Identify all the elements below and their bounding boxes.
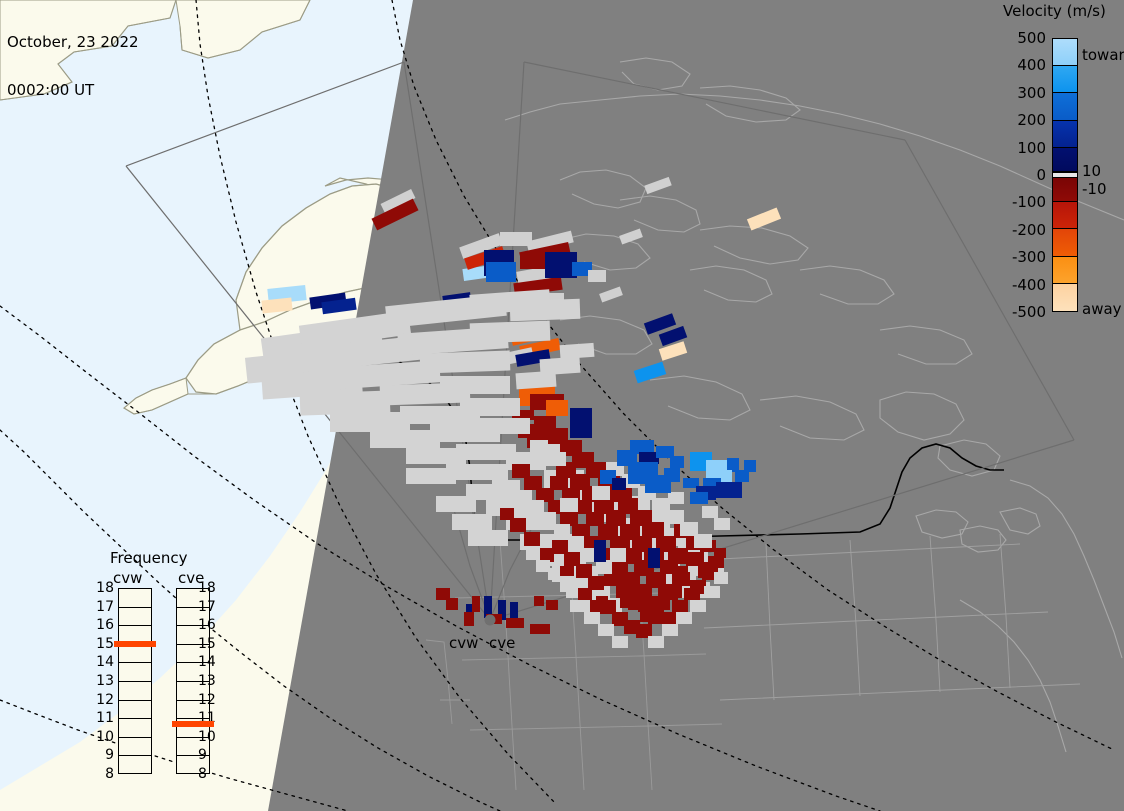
ground-scatter-cell[interactable]	[560, 498, 578, 512]
frequency-tick-cve-10: 10	[198, 729, 224, 745]
colorbar-band-5	[1053, 178, 1077, 202]
velocity-cell-positive[interactable]	[472, 596, 480, 612]
frequency-tick-cvw-8: 8	[88, 766, 114, 782]
ground-scatter-cell[interactable]	[420, 350, 511, 373]
velocity-cell-negative[interactable]	[506, 618, 524, 628]
date-label: October, 23 2022	[7, 34, 139, 50]
ground-scatter-cell[interactable]	[370, 430, 440, 448]
velocity-cell-negative[interactable]	[672, 600, 688, 612]
ground-scatter-cell[interactable]	[536, 560, 550, 572]
ground-scatter-cell[interactable]	[714, 518, 730, 530]
ground-scatter-cell[interactable]	[592, 486, 610, 500]
frequency-gauge-cvw[interactable]	[118, 588, 152, 774]
velocity-cell-negative[interactable]	[576, 564, 592, 578]
velocity-cell-negative[interactable]	[552, 540, 568, 554]
map-site-label-cvw: cvw	[449, 634, 478, 652]
velocity-cell-negative[interactable]	[550, 476, 568, 490]
velocity-cell-negative[interactable]	[700, 562, 714, 572]
colorbar-minus-threshold-label: -10	[1082, 180, 1107, 198]
frequency-cell	[119, 719, 151, 738]
radar-site-marker[interactable]	[485, 615, 496, 626]
velocity-cell-negative[interactable]	[596, 596, 608, 608]
ground-scatter-cell[interactable]	[554, 524, 570, 538]
ground-scatter-cell[interactable]	[690, 600, 706, 612]
frequency-tick-cve-16: 16	[198, 617, 224, 633]
frequency-tick-cvw-16: 16	[88, 617, 114, 633]
velocity-cell-negative[interactable]	[620, 596, 632, 608]
ground-scatter-cell[interactable]	[300, 390, 391, 415]
frequency-tick-cve-15: 15	[198, 636, 224, 652]
colorbar-band-6	[1053, 202, 1077, 229]
velocity-cell-negative[interactable]	[510, 518, 526, 532]
colorbar-band-4	[1053, 148, 1077, 172]
velocity-cell-negative[interactable]	[656, 596, 668, 608]
colorbar-band-0	[1053, 39, 1077, 66]
velocity-cell-negative[interactable]	[642, 522, 664, 538]
ground-scatter-cell[interactable]	[694, 534, 712, 548]
ground-scatter-cell[interactable]	[470, 321, 551, 344]
velocity-cell-negative[interactable]	[664, 584, 682, 598]
ground-scatter-cell[interactable]	[526, 548, 540, 560]
velocity-cell-negative[interactable]	[464, 612, 474, 626]
velocity-cell-negative[interactable]	[546, 600, 558, 610]
frequency-radar-label-cvw: cvw	[113, 569, 142, 587]
frequency-cell	[119, 701, 151, 720]
ground-scatter-cell[interactable]	[652, 498, 670, 512]
velocity-colorbar[interactable]	[1052, 38, 1078, 312]
ground-scatter-cell[interactable]	[668, 492, 684, 504]
ground-scatter-cell[interactable]	[610, 548, 626, 562]
velocity-cell-positive[interactable]	[630, 440, 654, 454]
ground-scatter-cell[interactable]	[480, 418, 530, 434]
velocity-cell-negative[interactable]	[512, 464, 530, 478]
ground-scatter-cell[interactable]	[546, 452, 566, 466]
map-canvas[interactable]	[0, 0, 1124, 811]
velocity-cell-positive[interactable]	[690, 492, 708, 504]
ground-scatter-cell[interactable]	[460, 398, 520, 416]
frequency-tick-cvw-18: 18	[88, 580, 114, 596]
velocity-cell-positive[interactable]	[594, 540, 606, 562]
ground-scatter-cell[interactable]	[560, 343, 595, 359]
velocity-cell-negative[interactable]	[560, 566, 574, 576]
ground-scatter-cell[interactable]	[510, 299, 581, 321]
colorbar-toward-label: toward	[1082, 46, 1124, 64]
velocity-cell-negative[interactable]	[524, 476, 542, 490]
ground-scatter-cell[interactable]	[568, 536, 584, 550]
velocity-cell-negative[interactable]	[578, 588, 592, 600]
colorbar-band-7	[1053, 229, 1077, 256]
frequency-cell	[119, 589, 151, 608]
colorbar-tick--400: -400	[1000, 276, 1046, 294]
velocity-cell-negative[interactable]	[564, 552, 580, 566]
ground-scatter-cell[interactable]	[560, 580, 574, 592]
ground-scatter-cell[interactable]	[570, 600, 586, 612]
velocity-cell-negative[interactable]	[648, 612, 662, 624]
frequency-tick-cve-13: 13	[198, 673, 224, 689]
ground-scatter-cell[interactable]	[666, 510, 684, 524]
velocity-cell-positive[interactable]	[612, 478, 626, 490]
frequency-cell	[119, 756, 151, 775]
frequency-tick-cvw-10: 10	[88, 729, 114, 745]
colorbar-band-1	[1053, 66, 1077, 93]
velocity-cell-negative[interactable]	[536, 488, 554, 502]
map-site-label-cve: cve	[489, 634, 515, 652]
ground-scatter-cell[interactable]	[548, 568, 562, 580]
ground-scatter-cell[interactable]	[676, 612, 692, 624]
frequency-tick-cve-14: 14	[198, 654, 224, 670]
velocity-cell-negative[interactable]	[676, 566, 688, 578]
frequency-tick-cve-12: 12	[198, 692, 224, 708]
velocity-cell-negative[interactable]	[714, 548, 726, 558]
frequency-tick-cve-8: 8	[198, 766, 224, 782]
ground-scatter-cell[interactable]	[704, 586, 720, 598]
frequency-cell	[119, 738, 151, 757]
timestamp-block: October, 23 2022 0002:00 UT	[7, 2, 139, 130]
frequency-tick-cvw-15: 15	[88, 636, 114, 652]
velocity-cell-positive[interactable]	[510, 602, 518, 620]
velocity-cell-negative[interactable]	[660, 560, 678, 574]
frequency-marker-cvw	[114, 641, 156, 647]
frequency-tick-cvw-11: 11	[88, 710, 114, 726]
frequency-panel-title: Frequency	[110, 549, 188, 567]
frequency-tick-cvw-12: 12	[88, 692, 114, 708]
ground-scatter-cell[interactable]	[702, 506, 718, 518]
ground-scatter-cell[interactable]	[584, 612, 600, 624]
ground-scatter-cell[interactable]	[648, 636, 664, 648]
time-label: 0002:00 UT	[7, 82, 139, 98]
velocity-cell-negative[interactable]	[530, 624, 550, 634]
velocity-cell-positive[interactable]	[670, 456, 684, 468]
velocity-cell-negative[interactable]	[572, 524, 590, 538]
velocity-cell-negative[interactable]	[446, 598, 458, 610]
velocity-cell-negative[interactable]	[534, 596, 544, 606]
velocity-cell-negative[interactable]	[538, 548, 554, 562]
colorbar-tick-300: 300	[1000, 84, 1046, 102]
colorbar-band-9	[1053, 284, 1077, 311]
ground-scatter-cell[interactable]	[452, 514, 492, 530]
velocity-cell-negative[interactable]	[586, 512, 604, 526]
velocity-cell[interactable]	[486, 262, 516, 282]
frequency-tick-cvw-9: 9	[88, 747, 114, 763]
colorbar-tick-500: 500	[1000, 29, 1046, 47]
colorbar-plus-threshold-label: 10	[1082, 162, 1101, 180]
frequency-cell	[119, 663, 151, 682]
colorbar-tick-200: 200	[1000, 111, 1046, 129]
frequency-marker-cve	[172, 721, 214, 727]
velocity-cell[interactable]	[546, 400, 568, 416]
velocity-cell-negative[interactable]	[588, 576, 604, 590]
velocity-cell-negative[interactable]	[524, 532, 540, 546]
velocity-cell-positive[interactable]	[648, 548, 660, 568]
colorbar-tick--100: -100	[1000, 193, 1046, 211]
colorbar-title: Velocity (m/s)	[1003, 2, 1106, 20]
ground-scatter-cell[interactable]	[468, 530, 508, 546]
colorbar-tick-400: 400	[1000, 56, 1046, 74]
velocity-cell[interactable]	[500, 232, 532, 246]
frequency-tick-cvw-17: 17	[88, 599, 114, 615]
ground-scatter-cell[interactable]	[598, 624, 614, 636]
colorbar-tick-0: 0	[1000, 166, 1046, 184]
colorbar-tick--500: -500	[1000, 303, 1046, 321]
velocity-cell[interactable]	[588, 270, 606, 282]
frequency-cell	[119, 682, 151, 701]
velocity-cell-negative[interactable]	[636, 624, 652, 638]
ground-scatter-cell[interactable]	[662, 624, 678, 636]
colorbar-band-8	[1053, 257, 1077, 284]
frequency-tick-cve-17: 17	[198, 599, 224, 615]
velocity-cell-positive[interactable]	[570, 408, 592, 438]
frequency-cell	[119, 608, 151, 627]
ground-scatter-cell[interactable]	[492, 470, 508, 484]
colorbar-band-3	[1053, 121, 1077, 148]
frequency-cell	[119, 645, 151, 664]
ground-scatter-cell[interactable]	[540, 512, 556, 526]
ground-scatter-cell[interactable]	[436, 496, 476, 512]
velocity-cell-negative[interactable]	[684, 588, 700, 600]
colorbar-band-2	[1053, 93, 1077, 120]
ground-scatter-cell[interactable]	[612, 636, 628, 648]
colorbar-tick--200: -200	[1000, 221, 1046, 239]
velocity-cell-positive[interactable]	[716, 482, 742, 498]
velocity-cell-positive[interactable]	[727, 458, 739, 470]
ground-scatter-cell[interactable]	[330, 412, 410, 432]
velocity-cell-positive[interactable]	[664, 468, 680, 482]
colorbar-away-label: away	[1082, 300, 1122, 318]
velocity-cell-negative[interactable]	[560, 512, 578, 526]
frequency-tick-cve-9: 9	[198, 747, 224, 763]
velocity-cell-negative[interactable]	[604, 572, 622, 586]
ground-scatter-cell[interactable]	[440, 376, 510, 394]
colorbar-tick--300: -300	[1000, 248, 1046, 266]
ground-scatter-cell[interactable]	[596, 560, 612, 574]
velocity-cell-negative[interactable]	[616, 584, 634, 598]
frequency-tick-cve-18: 18	[198, 580, 224, 596]
ground-scatter-cell[interactable]	[714, 572, 728, 584]
velocity-cell-negative[interactable]	[638, 600, 650, 612]
frequency-tick-cvw-13: 13	[88, 673, 114, 689]
colorbar-tick-100: 100	[1000, 139, 1046, 157]
velocity-cell-negative[interactable]	[660, 612, 676, 624]
ground-scatter-cell[interactable]	[680, 522, 698, 536]
velocity-cell-positive[interactable]	[744, 460, 756, 472]
ground-scatter-cell[interactable]	[539, 357, 580, 376]
velocity-cell-negative[interactable]	[500, 508, 514, 520]
radar-map-figure: October, 23 2022 0002:00 UT Velocity (m/…	[0, 0, 1124, 811]
frequency-tick-cvw-14: 14	[88, 654, 114, 670]
